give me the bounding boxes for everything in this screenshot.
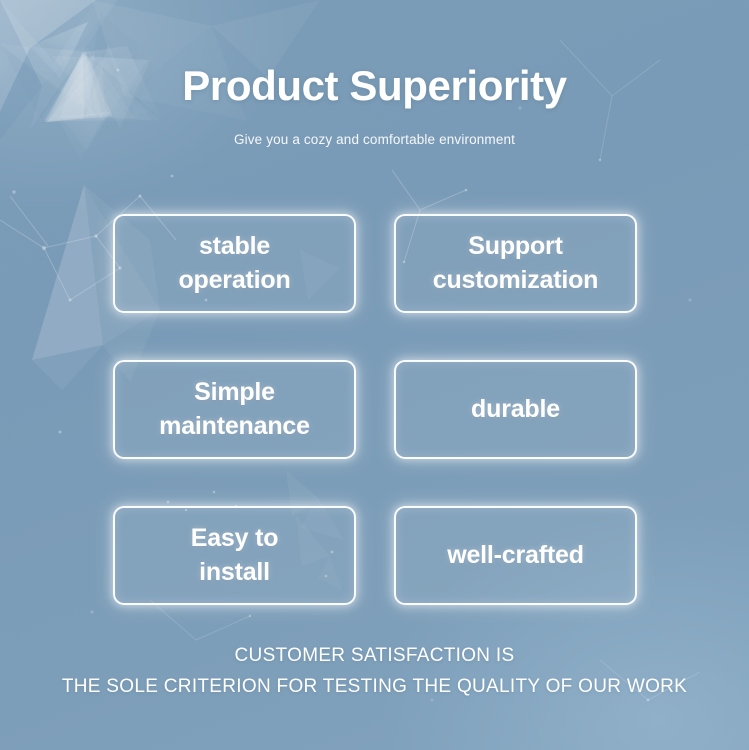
page-title: Product Superiority [0,62,749,111]
feature-card-label: well-crafted [439,539,592,573]
feature-card-label: Easy to install [183,522,287,589]
footer-slogan-line-2: THE SOLE CRITERION FOR TESTING THE QUALI… [0,672,749,703]
footer-slogan: CUSTOMER SATISFACTION IS THE SOLE CRITER… [0,641,749,703]
feature-card-label: durable [463,393,568,427]
feature-card-stable-operation[interactable]: stable operation [113,214,356,313]
feature-card-simple-maintenance[interactable]: Simple maintenance [113,360,356,459]
feature-card-easy-to-install[interactable]: Easy to install [113,506,356,605]
feature-card-label: Support customization [425,230,606,297]
product-superiority-poster: Product Superiority Give you a cozy and … [0,0,749,750]
feature-card-durable[interactable]: durable [394,360,637,459]
feature-card-label: Simple maintenance [151,376,318,443]
feature-card-grid: stable operation Support customization S… [113,214,637,605]
page-subtitle: Give you a cozy and comfortable environm… [0,132,749,147]
feature-card-support-customization[interactable]: Support customization [394,214,637,313]
feature-card-label: stable operation [170,230,298,297]
feature-card-well-crafted[interactable]: well-crafted [394,506,637,605]
poster-header: Product Superiority Give you a cozy and … [0,0,749,147]
footer-slogan-line-1: CUSTOMER SATISFACTION IS [0,641,749,672]
